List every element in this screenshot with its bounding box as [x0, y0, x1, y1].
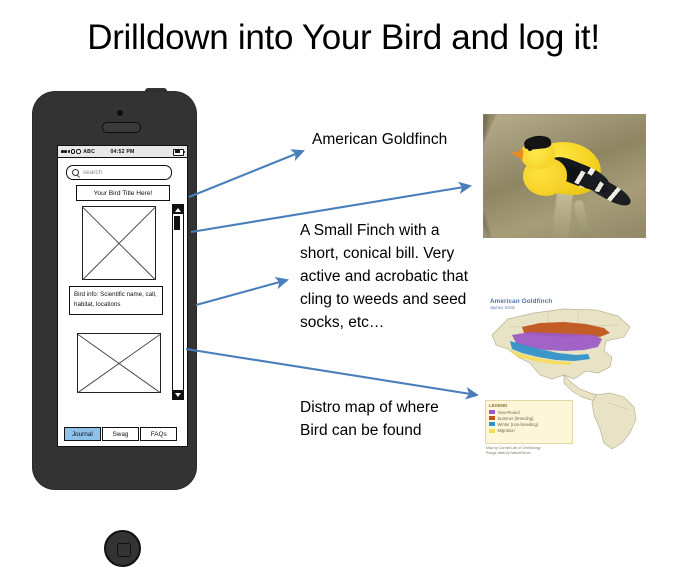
status-bar: ABC 04:52 PM: [58, 146, 187, 158]
tab-journal[interactable]: Journal: [64, 427, 101, 441]
phone-screen: ABC 04:52 PM search Your Bird Title Here…: [57, 145, 188, 447]
legend-item-year-round: Year-Round: [489, 410, 569, 415]
legend-title: LEGEND: [489, 403, 569, 408]
legend-label-year-round: Year-Round: [498, 410, 520, 415]
range-map-credit: Map by Cornell Lab of Ornithology Range …: [486, 446, 541, 455]
bird-info-box[interactable]: Bird info: Scientific name, call, habita…: [69, 286, 163, 315]
bird-title-field[interactable]: Your Bird Title Here!: [76, 185, 170, 201]
search-icon: [72, 169, 79, 176]
scrollbar-thumb[interactable]: [174, 216, 180, 230]
bird-beak: [511, 148, 524, 159]
search-placeholder: search: [83, 169, 102, 176]
bird-image-placeholder-bottom[interactable]: [77, 333, 161, 393]
legend-swatch-year-round: [489, 410, 495, 414]
screen-scrollbar[interactable]: [172, 204, 184, 400]
status-time: 04:52 PM: [58, 149, 187, 155]
goldfinch-photo: [483, 114, 646, 238]
battery-icon: [173, 149, 184, 156]
tab-bar: Journal Swag FAQs: [64, 427, 177, 441]
map-legend: LEGEND Year-Round Summer (breeding) Wint…: [485, 400, 573, 444]
credit-line-2: Range data by NatureServe: [486, 451, 541, 455]
south-america-landmass: [592, 393, 636, 449]
legend-swatch-migration: [489, 429, 495, 433]
credit-line-1: Map by Cornell Lab of Ornithology: [486, 446, 541, 451]
earpiece-speaker: [102, 122, 141, 133]
legend-item-migration: Migration: [489, 428, 569, 433]
bird-eye: [528, 147, 532, 151]
page-title: Drilldown into Your Bird and log it!: [0, 16, 687, 60]
legend-label-summer: Summer (breeding): [498, 416, 534, 421]
phone-body: ABC 04:52 PM search Your Bird Title Here…: [33, 92, 196, 489]
tab-swag[interactable]: Swag: [102, 427, 139, 441]
front-camera-icon: [117, 110, 123, 116]
legend-label-migration: Migration: [498, 428, 515, 433]
tab-faqs[interactable]: FAQs: [140, 427, 177, 441]
annotation-goldfinch-label: American Goldfinch: [312, 128, 447, 151]
annotation-description: A Small Finch with a short, conical bill…: [300, 219, 480, 334]
phone-mockup: ABC 04:52 PM search Your Bird Title Here…: [27, 88, 202, 492]
arrow-info-to-description: [196, 280, 287, 305]
home-button-icon: [117, 543, 131, 557]
legend-swatch-summer: [489, 416, 495, 420]
range-map: American Goldfinch Spinus tristis: [478, 283, 658, 455]
central-america-landmass: [564, 375, 598, 401]
search-input[interactable]: search: [66, 165, 172, 180]
annotation-distro-label: Distro map of where Bird can be found: [300, 396, 465, 442]
scroll-up-icon[interactable]: [173, 205, 183, 214]
legend-label-winter: Winter (non-breeding): [498, 422, 539, 427]
home-button[interactable]: [104, 530, 141, 567]
scroll-down-icon[interactable]: [173, 390, 183, 399]
arrow-image-to-map: [186, 349, 477, 395]
screen-content: search Your Bird Title Here! Bird info: …: [58, 158, 187, 447]
arrow-title-to-goldfinch: [189, 151, 303, 197]
legend-item-winter: Winter (non-breeding): [489, 422, 569, 427]
slide-root: Drilldown into Your Bird and log it! ABC…: [0, 0, 687, 498]
bird-image-placeholder-top[interactable]: [82, 206, 156, 280]
legend-item-summer: Summer (breeding): [489, 416, 569, 421]
legend-swatch-winter: [489, 422, 495, 426]
